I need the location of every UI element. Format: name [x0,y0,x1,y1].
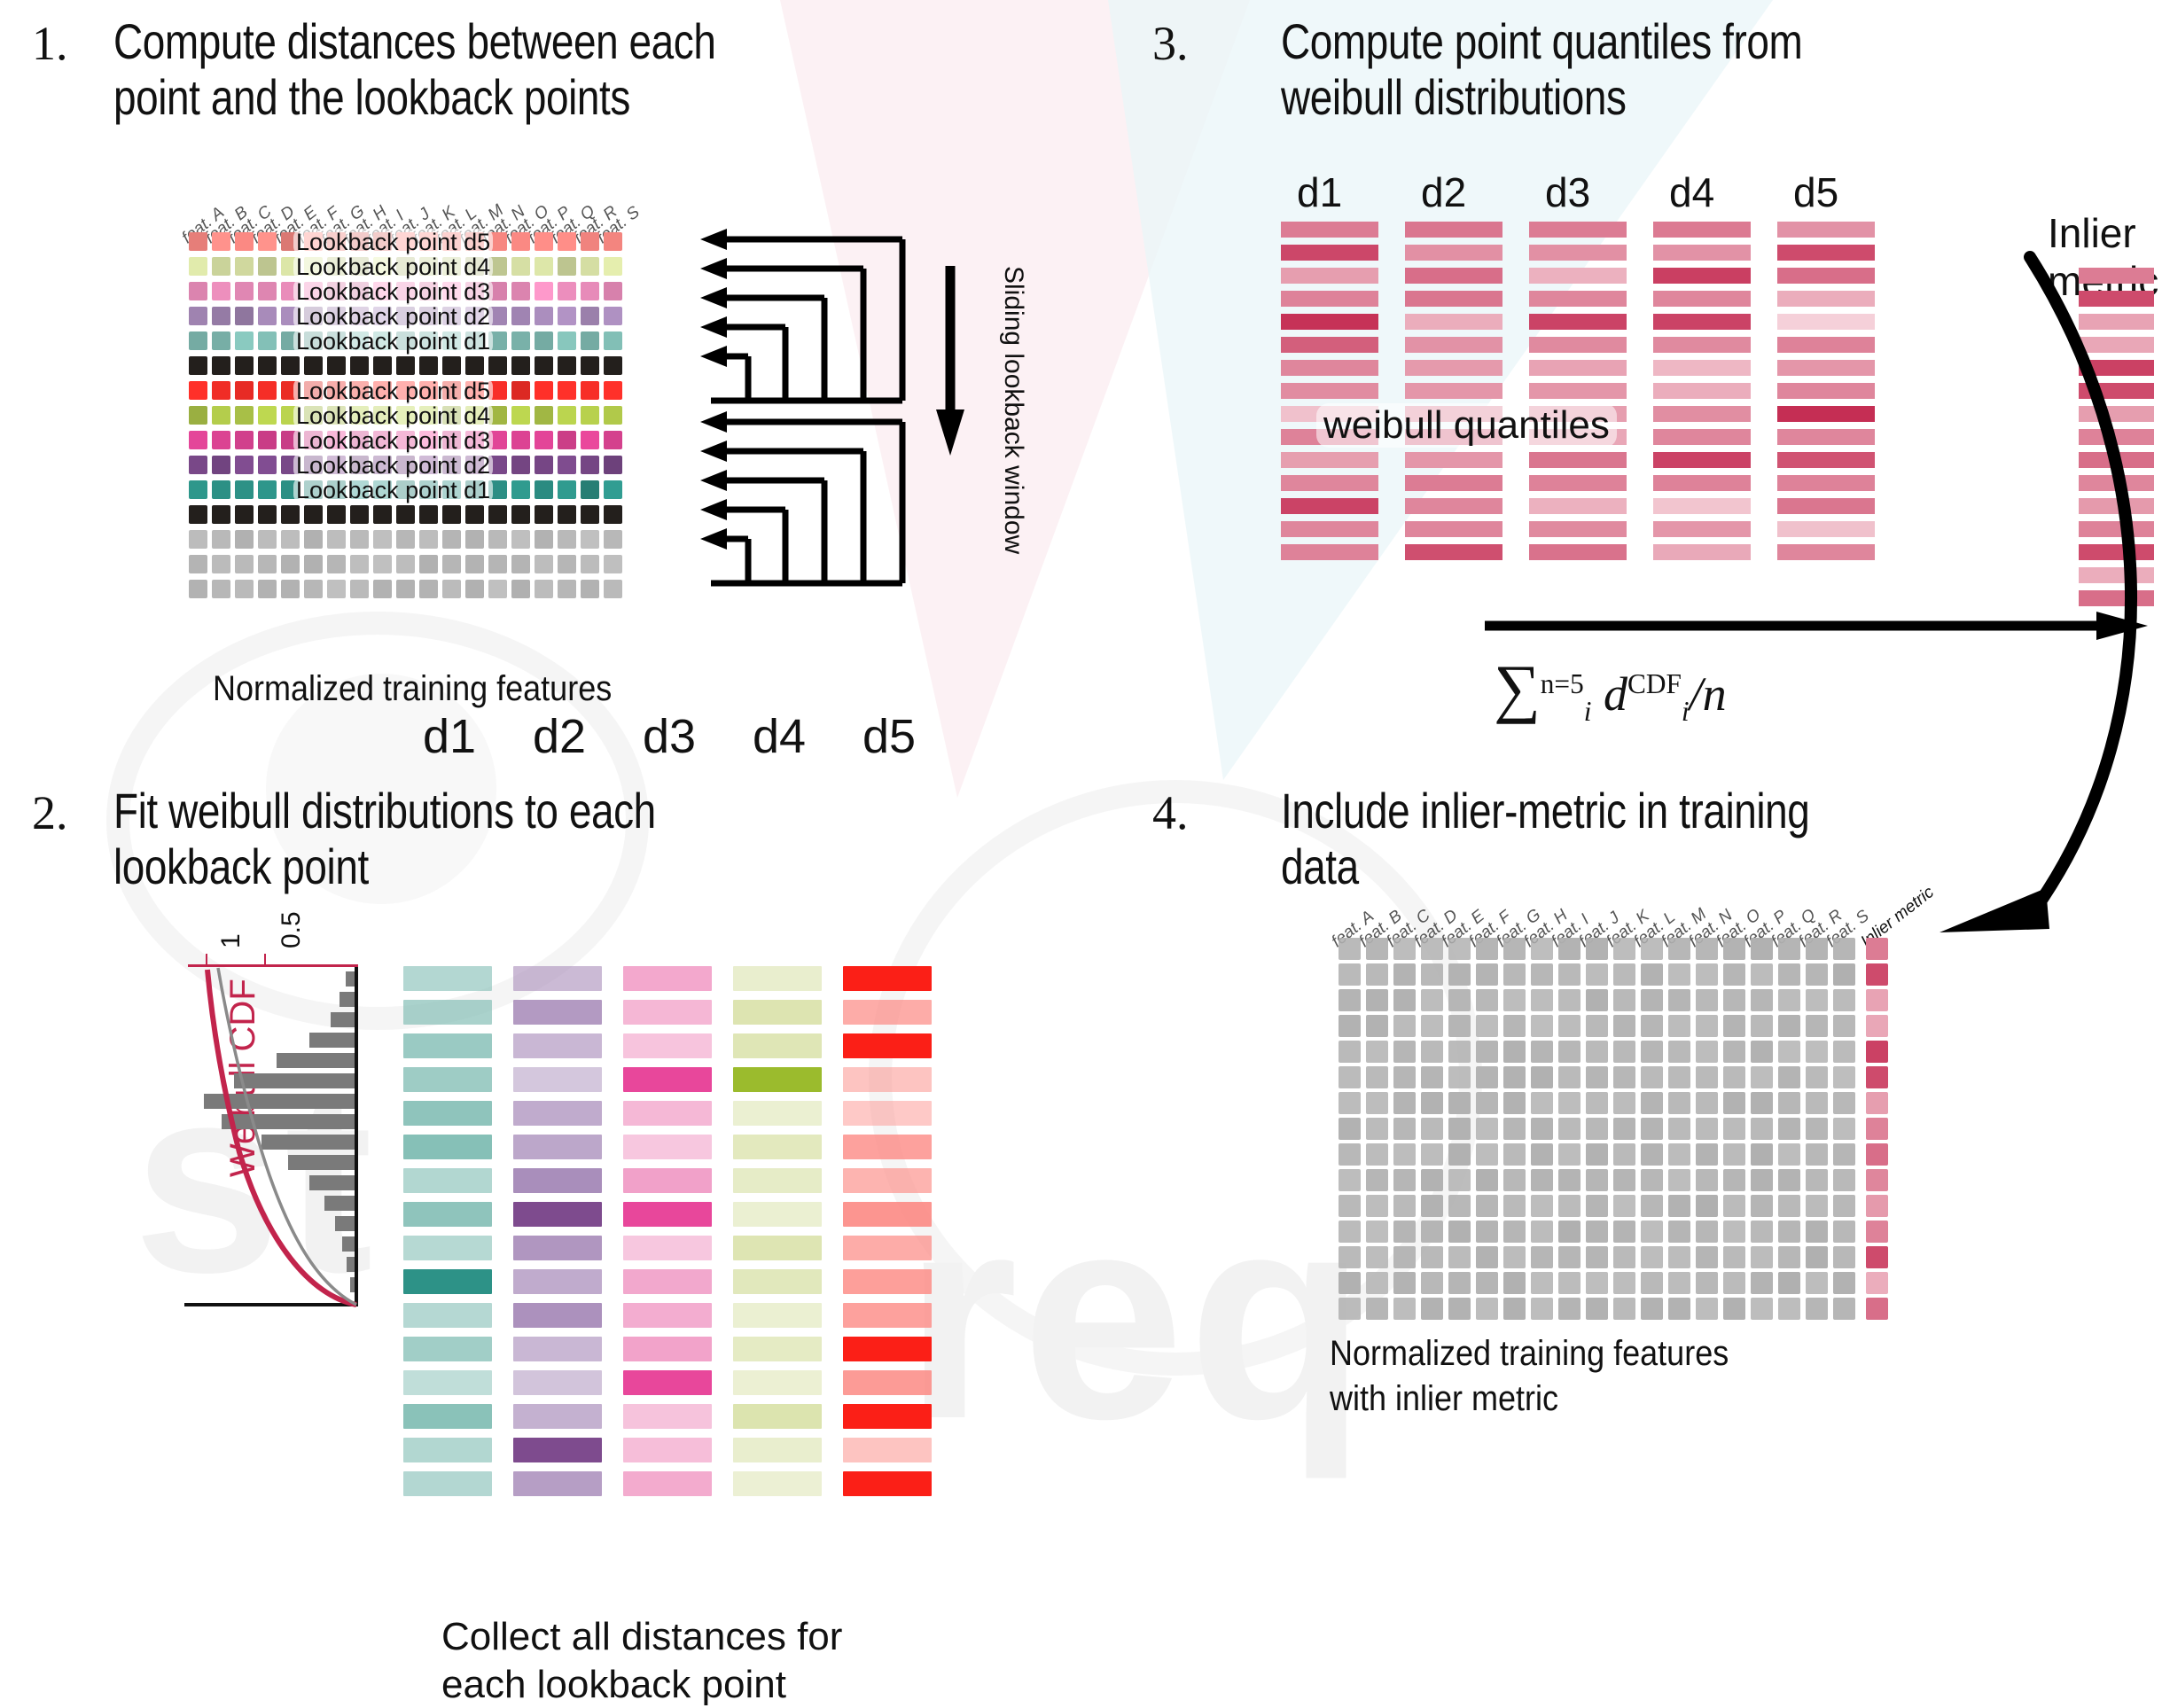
quantile-cell [1405,314,1502,330]
panel-3-title: Compute point quantiles from weibull dis… [1281,14,2044,125]
grid-cell [1558,1092,1581,1114]
grid-cell [373,505,392,524]
grid-cell [258,580,277,598]
grid-cell [535,480,553,499]
grid-cell [581,580,599,598]
grid-cell [258,356,277,375]
distance-cell [513,1303,602,1328]
grid-cell [581,257,599,276]
distance-cell [513,1067,602,1092]
quantile-column [1281,222,1378,567]
grid-cell [235,431,254,449]
weibull-cdf-curve [177,948,363,1312]
grid-cell [1448,1246,1471,1268]
grid-cell [1806,1272,1828,1294]
distance-cell [403,1202,492,1227]
grid-cell [419,505,438,524]
grid-cell [1421,963,1443,986]
grid-cell [1723,1015,1745,1037]
inlier-metric-cell [1866,1092,1888,1114]
grid-cell [1448,1272,1471,1294]
grid-cell [1778,1118,1800,1140]
grid-cell [1476,1298,1498,1320]
grid-cell [1668,989,1690,1011]
quantile-cell [1529,360,1627,376]
distance-cell [733,1135,822,1159]
grid-cell [1531,1195,1553,1217]
grid-cell [304,530,323,549]
grid-row [1339,938,1893,960]
distance-cell [843,1033,932,1058]
grid-cell [581,232,599,251]
grid-cell [1339,1143,1361,1166]
distance-cell [843,1135,932,1159]
grid-cell [281,505,300,524]
grid-cell [1723,1298,1745,1320]
distance-cell [403,1101,492,1126]
distance-cell [623,1000,712,1025]
quantile-cell [1777,222,1875,238]
grid-cell [1503,1246,1526,1268]
grid-cell [419,530,438,549]
grid-row: Lookback point d4 [189,257,627,276]
grid-cell [1751,1246,1773,1268]
grid-cell [1751,1143,1773,1166]
grid-cell [1833,1015,1855,1037]
grid-cell [604,505,622,524]
quantile-cell [1405,452,1502,468]
grid-cell [1806,1118,1828,1140]
grid-cell [1696,1143,1718,1166]
grid-cell [235,282,254,300]
grid-cell [1339,1221,1361,1243]
grid-cell [350,530,369,549]
grid-cell [189,232,207,251]
grid-cell [604,530,622,549]
grid-cell [212,331,230,350]
quantile-column [1529,222,1627,567]
grid-cell [558,356,576,375]
grid-cell [1448,963,1471,986]
grid-cell [1421,1272,1443,1294]
grid-cell [1696,938,1718,960]
grid-cell [511,431,530,449]
grid-cell [1531,1015,1553,1037]
grid-cell [558,431,576,449]
grid-cell [1586,938,1608,960]
grid-cell [1613,1066,1635,1088]
quantile-cell [1281,268,1378,284]
grid-cell [1613,1246,1635,1268]
grid-cell [281,580,300,598]
grid-cell [1558,1246,1581,1268]
grid-cell [442,555,461,573]
distance-cell [623,1202,712,1227]
inlier-metric-cell [1866,1118,1888,1140]
grid-cell [258,480,277,499]
grid-cell [235,480,254,499]
distance-cell [733,1404,822,1429]
grid-cell [212,530,230,549]
grid-cell [442,580,461,598]
inlier-metric-cell [1866,963,1888,986]
quantile-cell [1405,268,1502,284]
grid-row [1339,1041,1893,1063]
grid-cell [327,356,346,375]
distance-cell [403,1471,492,1496]
distance-cell [403,1168,492,1193]
grid-cell [1558,938,1581,960]
grid-row [1339,1143,1893,1166]
grid-cell [581,505,599,524]
grid-cell [1339,1092,1361,1114]
quantile-cell [1281,544,1378,560]
grid-cell [189,257,207,276]
quantile-cell [1653,314,1751,330]
grid-cell [1448,1092,1471,1114]
grid-row [1339,1272,1893,1294]
grid-cell [465,555,484,573]
grid-cell [1696,1169,1718,1191]
grid-cell [1613,1272,1635,1294]
weibull-quantiles-overlay-label: weibull quantiles [1316,403,1617,448]
distance-cell [403,1337,492,1361]
grid-cell [327,530,346,549]
grid-cell [1503,989,1526,1011]
grid-cell [373,580,392,598]
grid-cell [558,480,576,499]
distance-cell [843,1303,932,1328]
quantile-cell [1653,268,1751,284]
grid-cell [1366,1195,1388,1217]
quantile-cell [1529,337,1627,353]
panel-1-caption: Normalized training features [213,667,612,712]
distance-cell [843,966,932,991]
grid-cell [1806,1015,1828,1037]
grid-cell [1393,1041,1416,1063]
grid-cell [1586,1143,1608,1166]
grid-cell [212,431,230,449]
quantile-cell [1529,544,1627,560]
distance-cell [733,1303,822,1328]
grid-cell [1751,963,1773,986]
distance-cell [623,966,712,991]
lookback-point-label: Lookback point d1 [293,328,493,355]
grid-cell [1751,1118,1773,1140]
grid-cell [604,456,622,474]
inlier-metric-cell [1866,1143,1888,1166]
grid-cell [1393,1092,1416,1114]
grid-cell [1778,1195,1800,1217]
grid-cell [511,555,530,573]
grid-cell [1476,1015,1498,1037]
quantile-cell [1653,429,1751,445]
grid-cell [304,356,323,375]
grid-cell [1558,1118,1581,1140]
grid-cell [1531,1169,1553,1191]
grid-cell [1366,1092,1388,1114]
grid-cell [327,580,346,598]
sliding-window-label: Sliding lookback window [999,266,1028,554]
grid-cell [1696,989,1718,1011]
distance-cell [403,1067,492,1092]
grid-cell [558,232,576,251]
quantile-cell [1653,360,1751,376]
distance-cell [623,1404,712,1429]
quantile-cell [1281,314,1378,330]
distance-cell [513,1236,602,1260]
distance-cell [843,1101,932,1126]
quantile-cell [1281,475,1378,491]
grid-cell [1558,1298,1581,1320]
distance-cell [623,1101,712,1126]
grid-cell [1586,1092,1608,1114]
grid-cell [1778,1169,1800,1191]
grid-cell [581,431,599,449]
quantile-cell [1281,383,1378,399]
grid-cell [488,505,507,524]
grid-cell [1503,1272,1526,1294]
grid-cell [1696,1066,1718,1088]
lookback-point-label: Lookback point d3 [293,427,493,455]
quantile-column-label: d2 [1421,168,1466,216]
grid-cell [1531,1221,1553,1243]
distance-cell [623,1370,712,1395]
grid-cell [511,257,530,276]
collect-distances-overlay-label: Collect all distances for each lookback … [441,1613,842,1708]
grid-cell [327,505,346,524]
quantile-cell [1529,498,1627,514]
grid-cell [189,505,207,524]
inlier-metric-cell [1866,1066,1888,1088]
grid-cell [604,580,622,598]
quantile-column-label: d3 [1545,168,1590,216]
grid-cell [1531,1092,1553,1114]
grid-cell [1586,1195,1608,1217]
grid-cell [1586,1066,1608,1088]
grid-cell [212,480,230,499]
distance-cell [403,1438,492,1462]
grid-cell [1421,1092,1443,1114]
distance-cell [513,1269,602,1294]
grid-cell [189,431,207,449]
grid-cell [535,431,553,449]
grid-cell [581,480,599,499]
distance-cell [513,1438,602,1462]
grid-cell [1339,1272,1361,1294]
grid-cell [1586,989,1608,1011]
grid-cell [1366,963,1388,986]
grid-cell [1586,1015,1608,1037]
distance-cell [733,1471,822,1496]
grid-cell [1476,1066,1498,1088]
grid-cell [1366,1066,1388,1088]
grid-cell [604,431,622,449]
grid-cell [1339,963,1361,986]
grid-cell [327,555,346,573]
grid-cell [581,406,599,425]
grid-cell [281,356,300,375]
grid-cell [1641,1118,1663,1140]
formula-lower-limit: i [1584,696,1592,727]
grid-cell [1421,938,1443,960]
grid-cell [1476,1041,1498,1063]
quantile-column-label: d1 [1297,168,1342,216]
grid-cell [1696,1195,1718,1217]
grid-cell [1421,1015,1443,1037]
grid-cell [1806,1041,1828,1063]
lookback-point-label: Lookback point d3 [293,278,493,306]
grid-cell [1421,1221,1443,1243]
grid-cell [604,406,622,425]
distance-cell [843,1236,932,1260]
grid-cell [1476,1272,1498,1294]
distance-cell [623,1033,712,1058]
distance-cell [733,1236,822,1260]
grid-cell [488,530,507,549]
grid-cell [511,505,530,524]
quantile-cell [1405,498,1502,514]
grid-cell [1448,1015,1471,1037]
grid-cell [304,580,323,598]
grid-cell [442,505,461,524]
grid-cell [1833,1246,1855,1268]
grid-cell [235,356,254,375]
grid-cell [1393,1015,1416,1037]
distance-cell [623,1236,712,1260]
grid-cell [1778,1041,1800,1063]
grid-cell [1531,963,1553,986]
grid-cell [1366,1298,1388,1320]
grid-cell [1696,1246,1718,1268]
cdf-tick-label-1: 1 [216,933,246,948]
grid-cell [535,505,553,524]
distance-cell [513,1168,602,1193]
grid-cell [1366,938,1388,960]
grid-row: Lookback point d4 [189,406,627,425]
distance-column [843,966,932,1507]
grid-cell [581,381,599,400]
quantile-column [1653,222,1751,567]
lookback-point-label: Lookback point d2 [293,303,493,331]
grid-row: Lookback point d5 [189,381,627,400]
quantile-cell [1653,383,1751,399]
grid-cell [581,456,599,474]
grid-row [1339,1066,1893,1088]
distance-cell [843,1404,932,1429]
inlier-metric-cell [1866,1195,1888,1217]
inlier-metric-cell [1866,1041,1888,1063]
grid-cell [189,356,207,375]
quantile-cell [1653,544,1751,560]
quantile-cell [1529,314,1627,330]
grid-cell [1778,1015,1800,1037]
grid-row [189,530,627,549]
grid-cell [1641,1169,1663,1191]
grid-row [189,580,627,598]
grid-cell [1778,1246,1800,1268]
grid-cell [396,555,415,573]
lookback-point-label: Lookback point d5 [293,378,493,405]
grid-cell [1531,989,1553,1011]
grid-cell [1586,1246,1608,1268]
grid-cell [1723,938,1745,960]
grid-cell [535,282,553,300]
grid-cell [1339,1169,1361,1191]
distance-cell [403,966,492,991]
grid-cell [396,356,415,375]
grid-cell [258,456,277,474]
grid-cell [1723,1041,1745,1063]
grid-cell [1833,1298,1855,1320]
grid-cell [465,505,484,524]
quantile-cell [1281,337,1378,353]
distance-cell [843,1438,932,1462]
grid-row [1339,1118,1893,1140]
grid-cell [581,282,599,300]
grid-cell [1476,963,1498,986]
grid-cell [604,381,622,400]
grid-cell [1806,1066,1828,1088]
grid-cell [1751,1272,1773,1294]
grid-cell [1503,1195,1526,1217]
grid-cell [1641,1298,1663,1320]
grid-cell [1641,1195,1663,1217]
grid-cell [1668,1246,1690,1268]
grid-cell [1558,1041,1581,1063]
grid-cell [535,406,553,425]
grid-cell [1448,1143,1471,1166]
grid-cell [1806,989,1828,1011]
grid-cell [1806,1092,1828,1114]
grid-cell [1833,1118,1855,1140]
grid-cell [1668,1143,1690,1166]
grid-cell [350,555,369,573]
grid-cell [1558,1015,1581,1037]
quantile-column-label: d5 [1793,168,1838,216]
distance-cell [513,1000,602,1025]
grid-cell [1613,1041,1635,1063]
distance-cell [403,1236,492,1260]
panel-2-number: 2. [32,785,68,840]
distance-cell [843,1067,932,1092]
grid-cell [465,580,484,598]
grid-cell [1393,1221,1416,1243]
grid-cell [1503,1041,1526,1063]
grid-cell [189,331,207,350]
distance-cell [513,1471,602,1496]
grid-row [189,555,627,573]
distance-column-label: d5 [862,709,916,764]
grid-cell [488,356,507,375]
grid-cell [581,356,599,375]
inlier-metric-cell [1866,938,1888,960]
quantile-cell [1529,452,1627,468]
grid-cell [1778,1298,1800,1320]
grid-cell [1448,1195,1471,1217]
grid-cell [1613,1169,1635,1191]
grid-cell [1723,1169,1745,1191]
grid-cell [511,456,530,474]
grid-cell [1806,938,1828,960]
distance-cell [403,1135,492,1159]
grid-cell [1613,1092,1635,1114]
quantile-cell [1653,337,1751,353]
inlier-metric-cell [1866,1246,1888,1268]
distance-cell [843,1370,932,1395]
cdf-tick-label-0-5: 0.5 [277,911,307,948]
grid-cell [535,356,553,375]
